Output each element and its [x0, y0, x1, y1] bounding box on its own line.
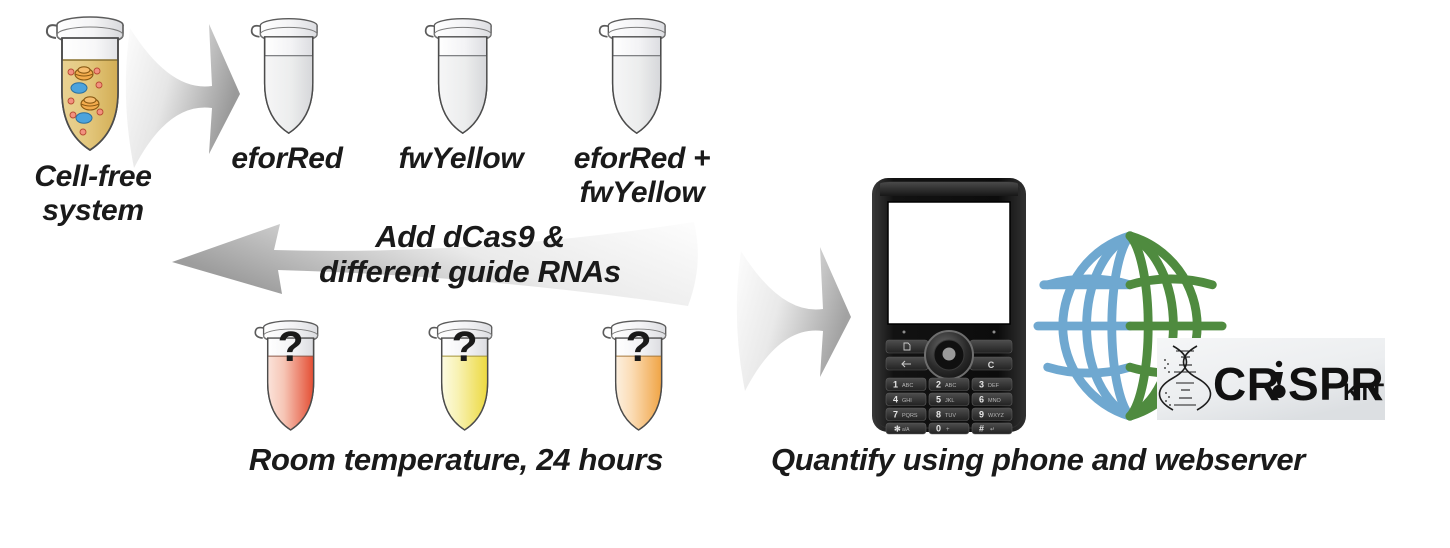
- label-room-temperature: Room temperature, 24 hours: [196, 443, 716, 478]
- tube-fw-yellow: [418, 8, 504, 143]
- svg-text:4: 4: [893, 395, 898, 405]
- question-marker: ?: [278, 323, 304, 371]
- softkey-menu: [886, 340, 928, 353]
- keypad-row: 1 ABC 2 ABC 3 DEF: [886, 378, 1012, 391]
- svg-text:#: #: [979, 424, 984, 434]
- svg-text:0: 0: [936, 424, 941, 434]
- tube-efor-red: [244, 8, 330, 143]
- svg-text:↵: ↵: [990, 427, 995, 433]
- label-efor-red-plus-fw-yellow: eforRed + fwYellow: [552, 142, 732, 209]
- svg-text:TUV: TUV: [945, 413, 956, 419]
- svg-text:9: 9: [979, 410, 984, 420]
- svg-text:2: 2: [936, 380, 941, 390]
- softkey-blank: [970, 340, 1012, 353]
- svg-text:DEF: DEF: [988, 383, 1000, 389]
- crisprkit-logo: CR SPR KIT: [1157, 338, 1385, 420]
- arrow-to-phone: [735, 245, 857, 397]
- svg-text:JKL: JKL: [945, 398, 954, 404]
- svg-text:ABC: ABC: [945, 383, 956, 389]
- svg-text:MNO: MNO: [988, 398, 1002, 404]
- tube-result-red: ?: [248, 310, 330, 440]
- svg-text:a/A: a/A: [902, 427, 910, 433]
- svg-text:7: 7: [893, 410, 898, 420]
- feature-phone[interactable]: C 1 ABC 2 ABC 3 DEF 4 GHI 5: [866, 174, 1032, 436]
- svg-text:ABC: ABC: [902, 383, 913, 389]
- svg-text:8: 8: [936, 410, 941, 420]
- question-marker: ?: [626, 323, 652, 371]
- svg-text:+: +: [946, 427, 950, 433]
- plasmid: [76, 113, 92, 123]
- keypad-row: 7 PQRS 8 TUV 9 WXYZ: [886, 408, 1012, 421]
- label-efor-red: eforRed: [212, 142, 362, 176]
- svg-text:5: 5: [936, 395, 941, 405]
- svg-text:6: 6: [979, 395, 984, 405]
- label-add-dcas9: Add dCas9 & different guide RNAs: [240, 220, 700, 289]
- logo-text-cr: CR: [1213, 358, 1280, 410]
- svg-text:GHI: GHI: [902, 398, 912, 404]
- label-fw-yellow: fwYellow: [376, 142, 546, 176]
- keypad-row: ✻ a/A 0 + # ↵: [886, 423, 1012, 434]
- dpad-center-button: [943, 348, 956, 361]
- tube-result-yellow: ?: [422, 310, 504, 440]
- phone-screen: [888, 202, 1010, 324]
- plasmid: [71, 83, 87, 93]
- svg-text:1: 1: [893, 380, 898, 390]
- tube-efor-red-fw-yellow: [592, 8, 678, 143]
- question-marker: ?: [452, 323, 478, 371]
- svg-text:PQRS: PQRS: [902, 413, 918, 419]
- softkey-clear-label: C: [988, 360, 995, 370]
- keypad-row: 4 GHI 5 JKL 6 MNO: [886, 393, 1012, 406]
- logo-text-kit: KIT: [1343, 379, 1385, 406]
- cell-free-extract-tube: [38, 8, 138, 158]
- label-quantify: Quantify using phone and webserver: [768, 443, 1308, 478]
- svg-text:✻: ✻: [894, 425, 901, 434]
- svg-text:WXYZ: WXYZ: [988, 413, 1005, 419]
- tube-result-orange: ?: [596, 310, 678, 440]
- workflow-figure: Cell-free system: [0, 0, 1450, 548]
- svg-text:3: 3: [979, 380, 984, 390]
